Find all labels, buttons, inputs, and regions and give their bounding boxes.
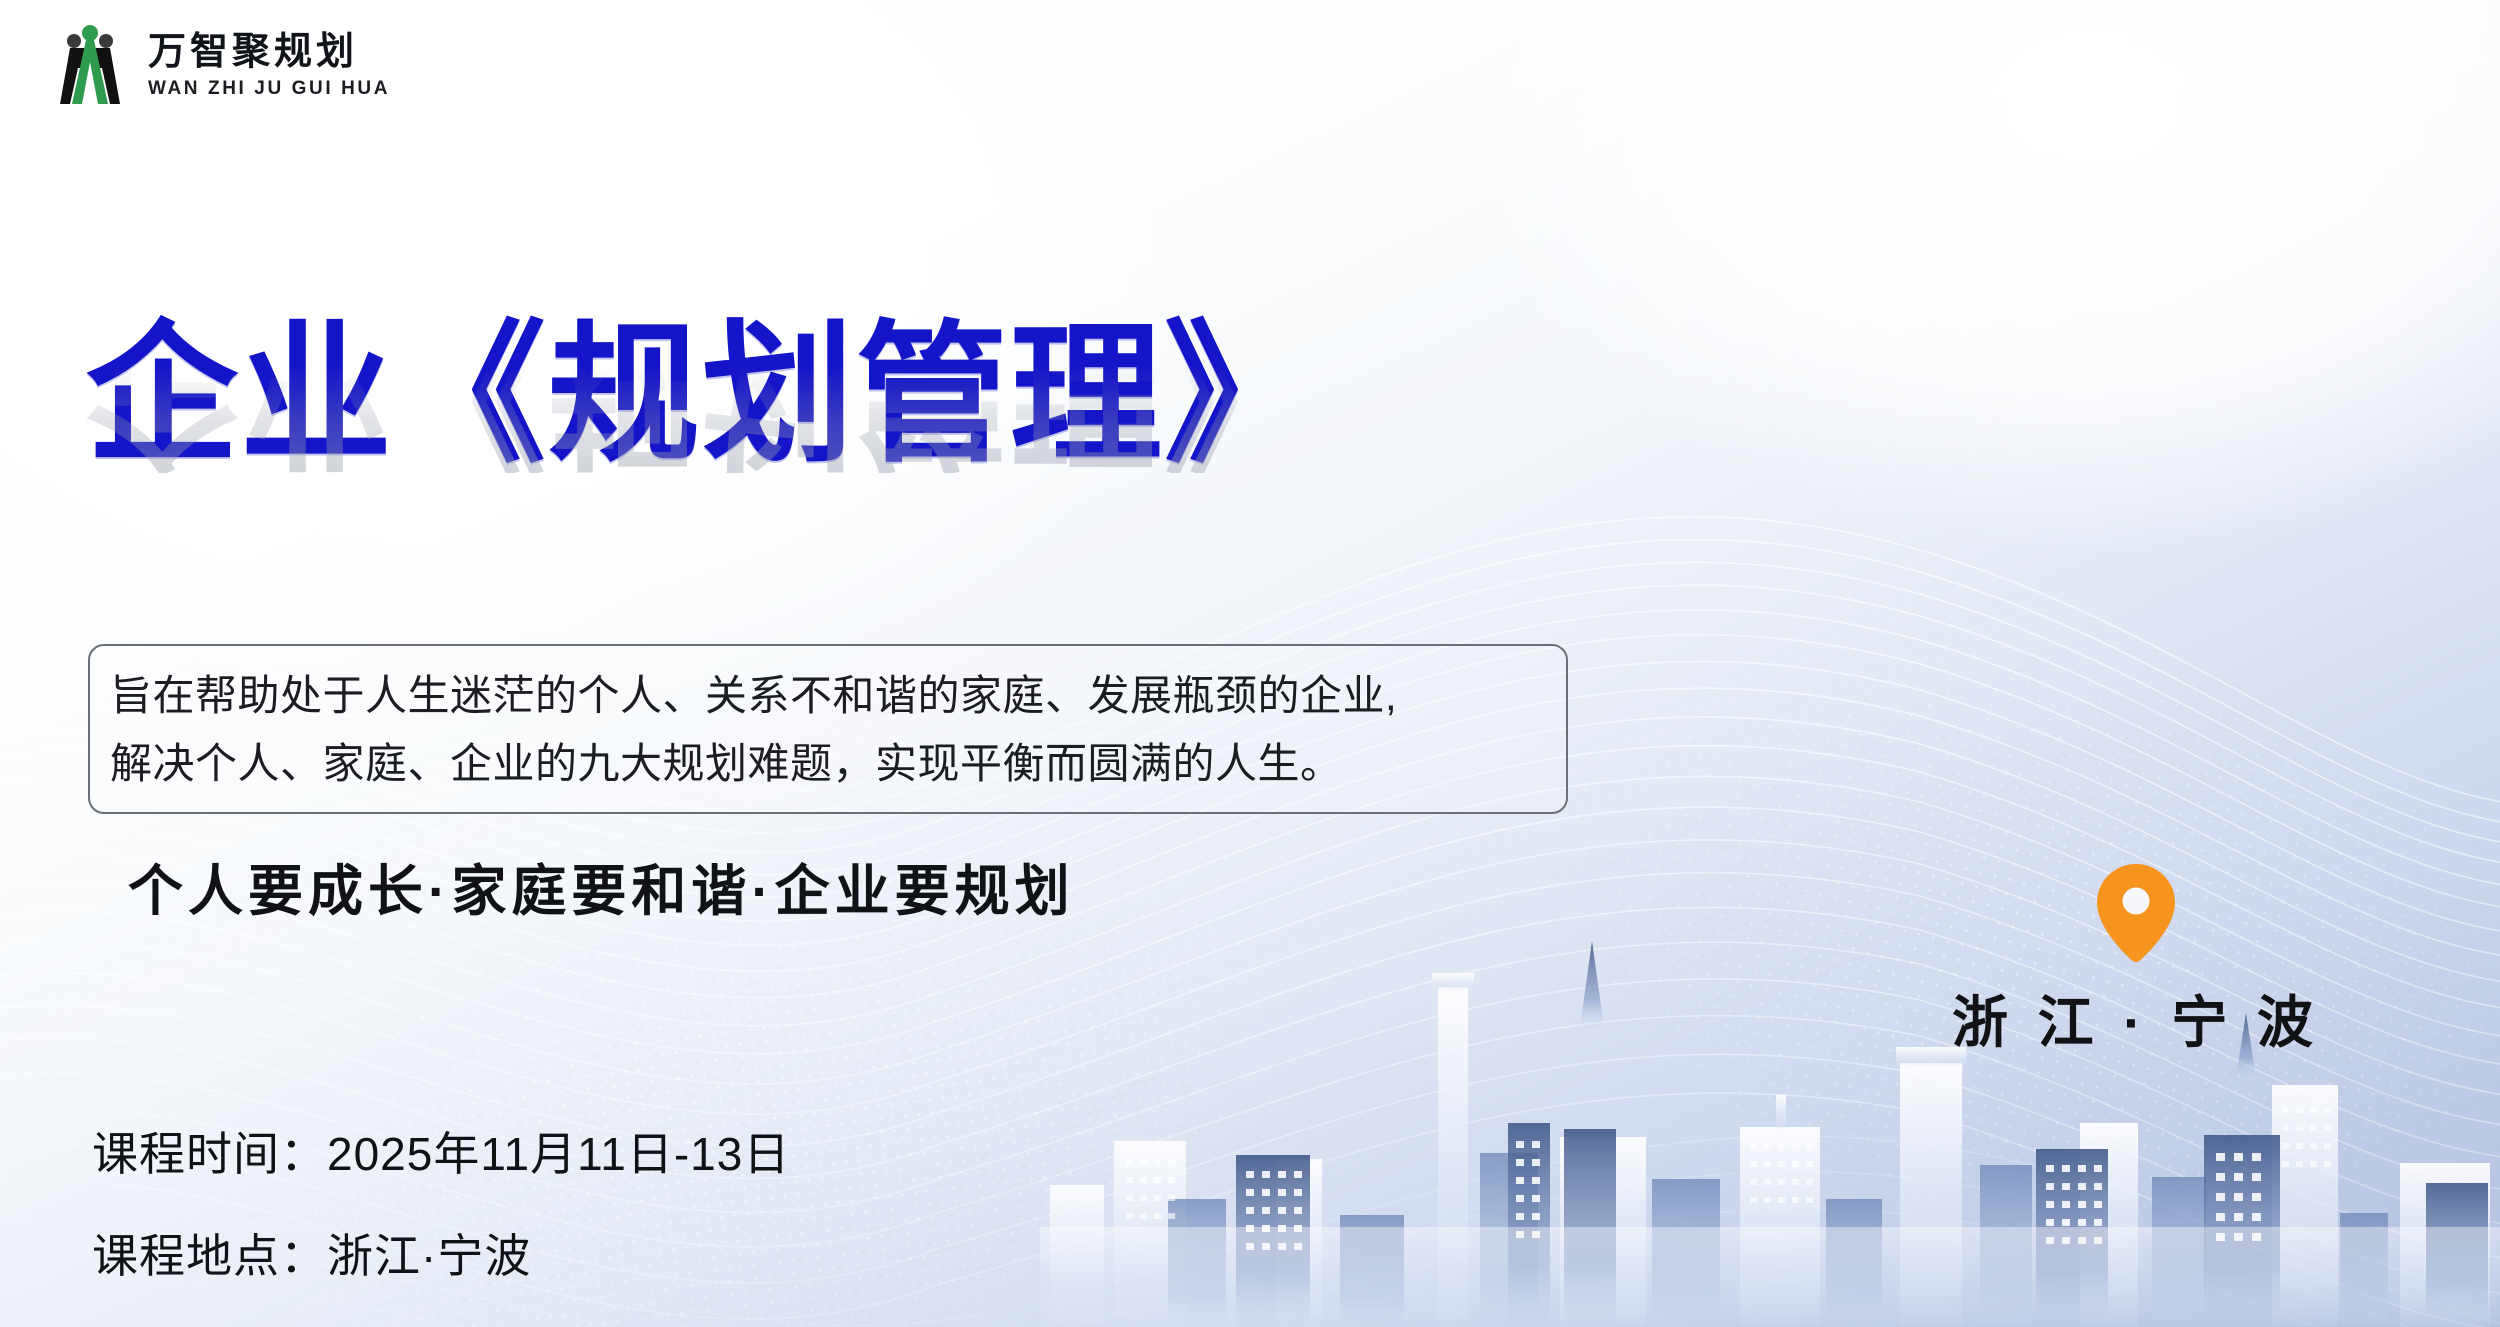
description-box: 旨在帮助处于人生迷茫的个人、关系不和谐的家庭、发展瓶颈的企业, 解决个人、家庭、…	[88, 644, 1568, 814]
three-people-mark-icon	[48, 22, 132, 108]
brand-logo-text: 万智聚规划 WAN ZHI JU GUI HUA	[148, 33, 390, 98]
page-title-reflection: 企业《规划管理》	[86, 355, 1786, 473]
course-time: 课程时间：2025年11月11日-13日	[92, 1118, 790, 1184]
brand-name-pinyin: WAN ZHI JU GUI HUA	[148, 79, 390, 98]
map-pin-icon	[2097, 864, 2175, 962]
brand-logo[interactable]: 万智聚规划 WAN ZHI JU GUI HUA	[48, 22, 390, 108]
location-block: 浙 江 · 宁 波	[1946, 864, 2326, 1059]
brand-name-cn: 万智聚规划	[148, 33, 390, 71]
poster-canvas: 万智聚规划 WAN ZHI JU GUI HUA 企业《规划管理》 企业《规划管…	[0, 0, 2500, 1327]
hero-title-block: 企业《规划管理》 企业《规划管理》	[86, 318, 1786, 591]
hero-tagline: 个人要成长·家庭要和谐·企业要规划	[128, 846, 1075, 926]
course-info-block: 课程时间：2025年11月11日-13日 课程地点：浙江·宁波	[92, 1118, 790, 1286]
course-place: 课程地点：浙江·宁波	[92, 1220, 790, 1286]
description-line-1: 旨在帮助处于人生迷茫的个人、关系不和谐的家庭、发展瓶颈的企业,	[110, 662, 1546, 730]
description-line-2: 解决个人、家庭、企业的九大规划难题，实现平衡而圆满的人生。	[110, 730, 1546, 798]
location-label: 浙 江 · 宁 波	[1946, 978, 2326, 1059]
